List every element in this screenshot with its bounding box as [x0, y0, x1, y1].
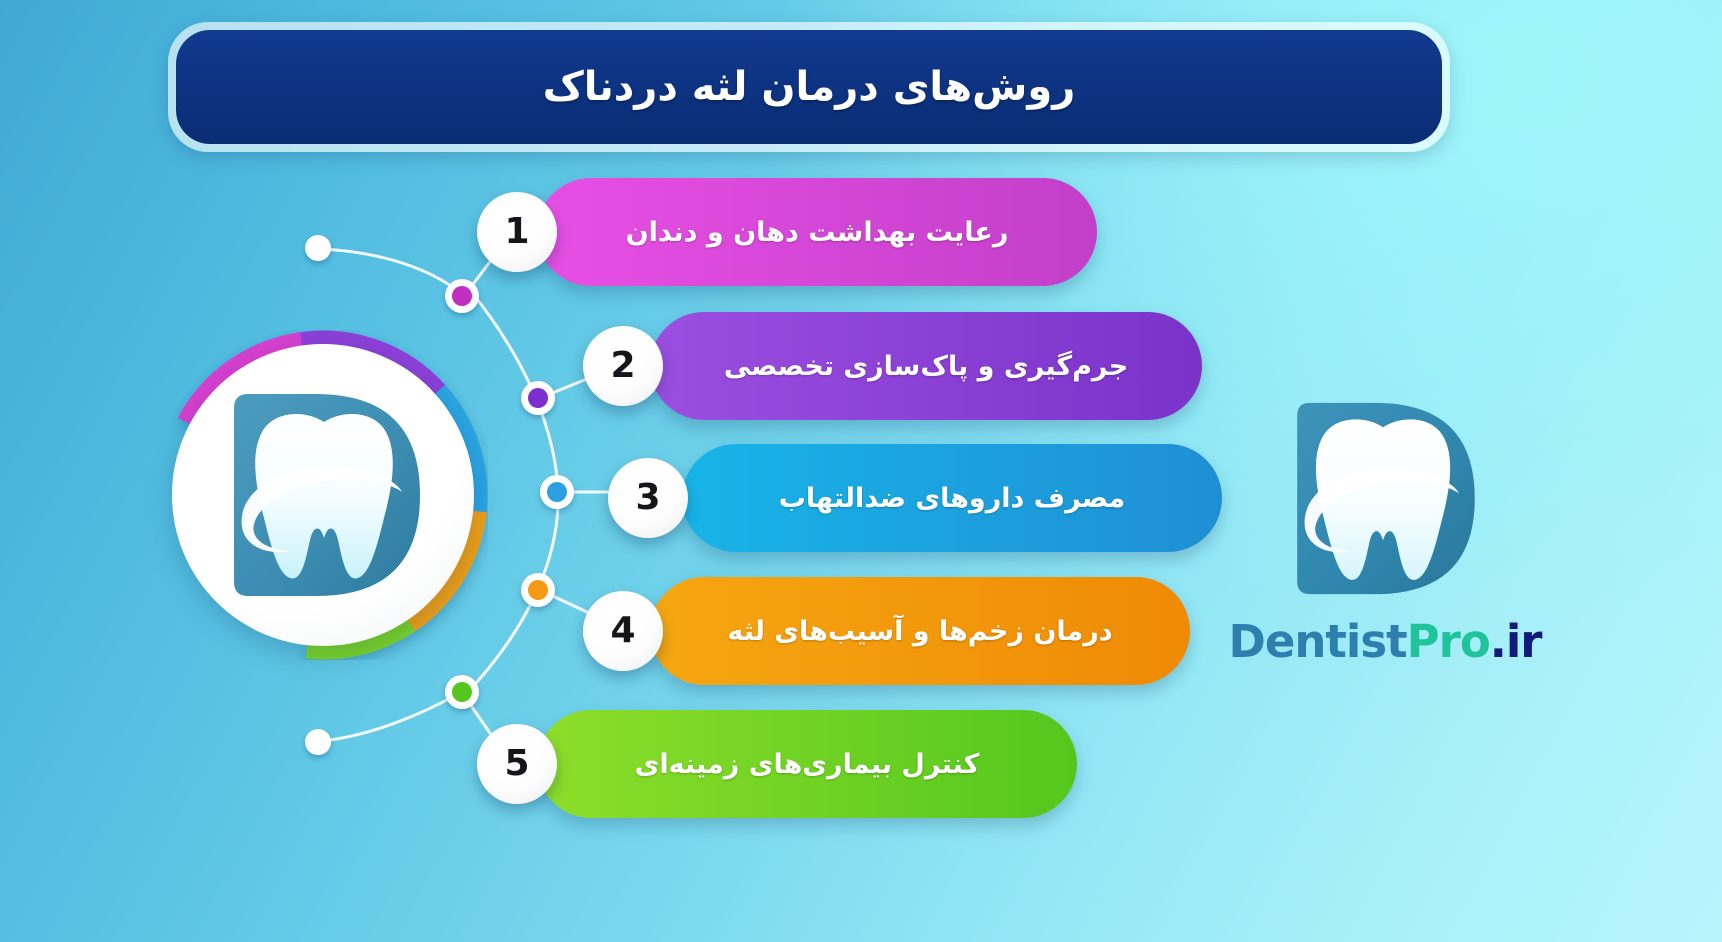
- step-number-badge-1[interactable]: 1: [477, 192, 557, 272]
- step-number: 3: [635, 480, 660, 516]
- step-number-badge-3[interactable]: 3: [608, 458, 688, 538]
- brand-logo: DentistPro.ir: [1200, 398, 1570, 668]
- step-number-badge-4[interactable]: 4: [583, 591, 663, 671]
- step-number: 2: [610, 348, 635, 384]
- infographic-canvas: روش‌های درمان لثه دردناک: [0, 0, 1722, 942]
- step-bar-1[interactable]: رعایت بهداشت دهان و دندان: [537, 178, 1097, 286]
- step-label: کنترل بیماری‌های زمینه‌ای: [597, 749, 1018, 780]
- step-number-badge-5[interactable]: 5: [477, 724, 557, 804]
- step-label: درمان زخم‌ها و آسیب‌های لثه: [689, 616, 1150, 647]
- connector-node-dot-1: [452, 286, 472, 306]
- step-bar-3[interactable]: مصرف داروهای ضدالتهاب: [682, 444, 1222, 552]
- step-label: مصرف داروهای ضدالتهاب: [741, 483, 1164, 514]
- step-row: کنترل بیماری‌های زمینه‌ای5: [0, 710, 1722, 818]
- brand-word-tld: .ir: [1490, 615, 1542, 668]
- step-number: 5: [504, 746, 529, 782]
- step-number-badge-2[interactable]: 2: [583, 326, 663, 406]
- step-label: رعایت بهداشت دهان و دندان: [588, 217, 1047, 248]
- connector-node-dot-5: [452, 682, 472, 702]
- step-bar-5[interactable]: کنترل بیماری‌های زمینه‌ای: [537, 710, 1077, 818]
- brand-word-secondary: Pro: [1407, 615, 1490, 668]
- step-number: 1: [504, 214, 529, 250]
- page-title: روش‌های درمان لثه دردناک: [543, 64, 1075, 110]
- step-bar-2[interactable]: جرم‌گیری و پاک‌سازی تخصصی: [650, 312, 1202, 420]
- step-bar-4[interactable]: درمان زخم‌ها و آسیب‌های لثه: [650, 577, 1190, 685]
- dentistpro-d-tooth-icon: [1287, 398, 1483, 599]
- brand-wordmark: DentistPro.ir: [1229, 615, 1542, 668]
- brand-word-primary: Dentist: [1229, 615, 1407, 668]
- title-bar: روش‌های درمان لثه دردناک: [176, 30, 1442, 144]
- step-row: رعایت بهداشت دهان و دندان1: [0, 178, 1722, 286]
- step-label: جرم‌گیری و پاک‌سازی تخصصی: [686, 351, 1166, 382]
- title-frame: روش‌های درمان لثه دردناک: [168, 22, 1450, 152]
- step-number: 4: [610, 613, 635, 649]
